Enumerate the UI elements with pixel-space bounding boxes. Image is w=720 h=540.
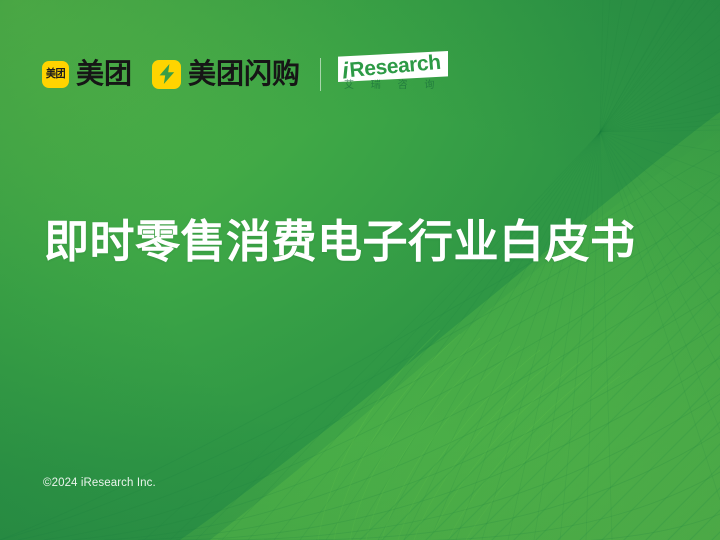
meituan-badge-icon: 美团: [42, 61, 69, 88]
logo-bar: 美团 美团 美团闪购 i Research 艾 瑞 咨 询: [42, 52, 450, 96]
logo-divider: [320, 58, 321, 91]
shangou-wordmark: 美团闪购: [188, 60, 300, 88]
meituan-logo[interactable]: 美团 美团: [42, 60, 132, 88]
copyright-notice: ©2024 iResearch Inc.: [43, 478, 156, 490]
iresearch-logo[interactable]: i Research 艾 瑞 咨 询: [338, 51, 450, 97]
meituan-wordmark: 美团: [76, 60, 132, 88]
meituan-shangou-logo[interactable]: 美团闪购: [152, 60, 300, 89]
meituan-badge-label: 美团: [46, 69, 65, 80]
page-title: 即时零售消费电子行业白皮书: [44, 216, 636, 267]
presentation-slide: 美团 美团 美团闪购 i Research 艾 瑞 咨 询 即时零售消费电子行业…: [0, 0, 720, 540]
iresearch-wordmark: i Research: [341, 49, 447, 83]
lightning-bolt-icon: [152, 60, 181, 89]
iresearch-subtitle: 艾 瑞 咨 询: [344, 81, 441, 91]
